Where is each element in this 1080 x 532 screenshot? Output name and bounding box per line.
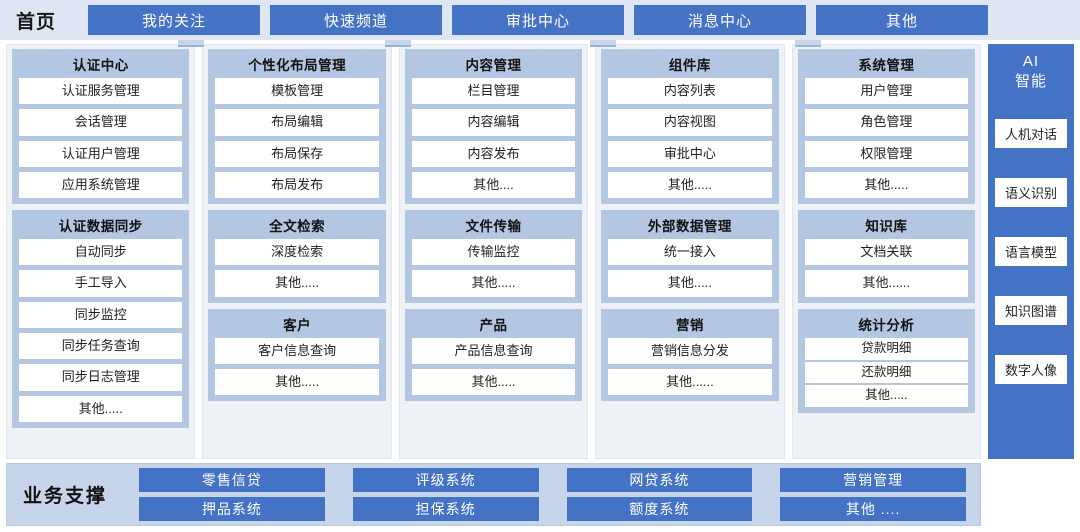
module-group-title: 外部数据管理 bbox=[608, 213, 771, 239]
module-item[interactable]: 文档关联 bbox=[805, 239, 968, 265]
nav-connector-notch bbox=[385, 40, 411, 47]
module-item-list: 产品信息查询其他..... bbox=[412, 338, 575, 396]
module-item[interactable]: 其他..... bbox=[805, 172, 968, 198]
nav-tab-2[interactable]: 审批中心 bbox=[452, 5, 624, 35]
module-item-list: 用户管理角色管理权限管理其他..... bbox=[805, 78, 968, 198]
main-body: 认证中心认证服务管理会话管理认证用户管理应用系统管理认证数据同步自动同步手工导入… bbox=[0, 40, 1080, 459]
module-group: 外部数据管理统一接入其他..... bbox=[601, 210, 778, 303]
ai-sidebar-title: AI 智能 bbox=[1015, 52, 1047, 93]
business-support-label: 业务支撑 bbox=[17, 481, 139, 508]
module-group-title: 客户 bbox=[215, 312, 378, 338]
module-item[interactable]: 模板管理 bbox=[215, 78, 378, 104]
support-button-7[interactable]: 其他 .... bbox=[780, 497, 966, 521]
module-group: 营销营销信息分发其他...... bbox=[601, 309, 778, 402]
module-item[interactable]: 同步日志管理 bbox=[19, 364, 182, 390]
module-group: 客户客户信息查询其他..... bbox=[208, 309, 385, 402]
module-item[interactable]: 同步任务查询 bbox=[19, 333, 182, 359]
module-item[interactable]: 其他..... bbox=[412, 270, 575, 296]
module-group: 认证中心认证服务管理会话管理认证用户管理应用系统管理 bbox=[12, 49, 189, 204]
module-group: 全文检索深度检索其他..... bbox=[208, 210, 385, 303]
module-column-4: 系统管理用户管理角色管理权限管理其他.....知识库文档关联其他......统计… bbox=[792, 44, 981, 459]
module-group: 组件库内容列表内容视图审批中心其他..... bbox=[601, 49, 778, 204]
module-group-title: 知识库 bbox=[805, 213, 968, 239]
ai-sidebar-item-0[interactable]: 人机对话 bbox=[995, 119, 1067, 148]
nav-connector-notch bbox=[178, 40, 204, 47]
ai-sidebar-item-4[interactable]: 数字人像 bbox=[995, 355, 1067, 384]
module-group-title: 组件库 bbox=[608, 52, 771, 78]
module-group-title: 文件传输 bbox=[412, 213, 575, 239]
module-item-list: 文档关联其他...... bbox=[805, 239, 968, 297]
nav-tab-list: 我的关注快速频道审批中心消息中心其他 bbox=[88, 5, 1072, 35]
ai-sidebar-item-3[interactable]: 知识图谱 bbox=[995, 296, 1067, 325]
module-group-title: 全文检索 bbox=[215, 213, 378, 239]
module-item[interactable]: 产品信息查询 bbox=[412, 338, 575, 364]
support-button-1[interactable]: 评级系统 bbox=[353, 468, 539, 492]
module-item[interactable]: 深度检索 bbox=[215, 239, 378, 265]
module-item-list: 深度检索其他..... bbox=[215, 239, 378, 297]
module-item[interactable]: 其他...... bbox=[805, 270, 968, 296]
ai-sidebar-item-2[interactable]: 语言模型 bbox=[995, 237, 1067, 266]
module-item[interactable]: 其他...... bbox=[608, 369, 771, 395]
module-item[interactable]: 其他..... bbox=[215, 369, 378, 395]
module-item[interactable]: 贷款明细 bbox=[805, 338, 968, 360]
business-support-bar: 业务支撑 零售信贷评级系统网贷系统营销管理押品系统担保系统额度系统其他 .... bbox=[0, 459, 1080, 532]
support-spacer bbox=[988, 463, 1074, 526]
support-button-4[interactable]: 押品系统 bbox=[139, 497, 325, 521]
module-item[interactable]: 其他..... bbox=[19, 396, 182, 422]
ai-sidebar-item-1[interactable]: 语义识别 bbox=[995, 178, 1067, 207]
module-item[interactable]: 内容列表 bbox=[608, 78, 771, 104]
module-item[interactable]: 会话管理 bbox=[19, 109, 182, 135]
module-item[interactable]: 栏目管理 bbox=[412, 78, 575, 104]
nav-tab-1[interactable]: 快速频道 bbox=[270, 5, 442, 35]
module-item[interactable]: 其他..... bbox=[412, 369, 575, 395]
module-item-list: 栏目管理内容编辑内容发布其他.... bbox=[412, 78, 575, 198]
nav-tab-4[interactable]: 其他 bbox=[816, 5, 988, 35]
nav-connector-notch bbox=[795, 40, 821, 47]
module-item-list: 统一接入其他..... bbox=[608, 239, 771, 297]
module-item[interactable]: 布局保存 bbox=[215, 141, 378, 167]
module-group: 内容管理栏目管理内容编辑内容发布其他.... bbox=[405, 49, 582, 204]
module-column-0: 认证中心认证服务管理会话管理认证用户管理应用系统管理认证数据同步自动同步手工导入… bbox=[6, 44, 195, 459]
module-item[interactable]: 内容视图 bbox=[608, 109, 771, 135]
ai-sidebar: AI 智能 人机对话语义识别语言模型知识图谱数字人像 bbox=[988, 44, 1074, 459]
module-item[interactable]: 其他..... bbox=[608, 270, 771, 296]
module-item[interactable]: 手工导入 bbox=[19, 270, 182, 296]
nav-connector-notch bbox=[590, 40, 616, 47]
module-columns: 认证中心认证服务管理会话管理认证用户管理应用系统管理认证数据同步自动同步手工导入… bbox=[6, 44, 981, 459]
module-item[interactable]: 内容编辑 bbox=[412, 109, 575, 135]
module-column-2: 内容管理栏目管理内容编辑内容发布其他....文件传输传输监控其他.....产品产… bbox=[399, 44, 588, 459]
module-item-list: 内容列表内容视图审批中心其他..... bbox=[608, 78, 771, 198]
module-item[interactable]: 其他..... bbox=[608, 172, 771, 198]
business-support-panel: 业务支撑 零售信贷评级系统网贷系统营销管理押品系统担保系统额度系统其他 .... bbox=[6, 463, 981, 526]
module-item[interactable]: 统一接入 bbox=[608, 239, 771, 265]
top-navigation-bar: 首页 我的关注快速频道审批中心消息中心其他 bbox=[0, 0, 1080, 40]
module-group-title: 内容管理 bbox=[412, 52, 575, 78]
nav-tab-3[interactable]: 消息中心 bbox=[634, 5, 806, 35]
module-column-1: 个性化布局管理模板管理布局编辑布局保存布局发布全文检索深度检索其他.....客户… bbox=[202, 44, 391, 459]
module-item[interactable]: 营销信息分发 bbox=[608, 338, 771, 364]
module-group: 认证数据同步自动同步手工导入同步监控同步任务查询同步日志管理其他..... bbox=[12, 210, 189, 428]
dashboard-page: 首页 我的关注快速频道审批中心消息中心其他 认证中心认证服务管理会话管理认证用户… bbox=[0, 0, 1080, 532]
module-group-title: 产品 bbox=[412, 312, 575, 338]
module-group-title: 认证数据同步 bbox=[19, 213, 182, 239]
module-group-title: 认证中心 bbox=[19, 52, 182, 78]
module-item[interactable]: 内容发布 bbox=[412, 141, 575, 167]
support-button-0[interactable]: 零售信贷 bbox=[139, 468, 325, 492]
module-item[interactable]: 认证用户管理 bbox=[19, 141, 182, 167]
business-support-button-grid: 零售信贷评级系统网贷系统营销管理押品系统担保系统额度系统其他 .... bbox=[139, 468, 970, 521]
module-item[interactable]: 自动同步 bbox=[19, 239, 182, 265]
module-item[interactable]: 同步监控 bbox=[19, 302, 182, 328]
support-button-5[interactable]: 担保系统 bbox=[353, 497, 539, 521]
support-button-3[interactable]: 营销管理 bbox=[780, 468, 966, 492]
module-item[interactable]: 客户信息查询 bbox=[215, 338, 378, 364]
module-item[interactable]: 权限管理 bbox=[805, 141, 968, 167]
module-item[interactable]: 用户管理 bbox=[805, 78, 968, 104]
module-item-list: 客户信息查询其他..... bbox=[215, 338, 378, 396]
module-item-list: 自动同步手工导入同步监控同步任务查询同步日志管理其他..... bbox=[19, 239, 182, 422]
module-group-title: 统计分析 bbox=[805, 312, 968, 338]
module-item[interactable]: 其他.... bbox=[412, 172, 575, 198]
module-item[interactable]: 角色管理 bbox=[805, 109, 968, 135]
module-group: 文件传输传输监控其他..... bbox=[405, 210, 582, 303]
module-item[interactable]: 审批中心 bbox=[608, 141, 771, 167]
ai-sidebar-item-list: 人机对话语义识别语言模型知识图谱数字人像 bbox=[995, 119, 1067, 384]
module-group: 系统管理用户管理角色管理权限管理其他..... bbox=[798, 49, 975, 204]
home-label: 首页 bbox=[10, 7, 88, 34]
module-group: 产品产品信息查询其他..... bbox=[405, 309, 582, 402]
module-item[interactable]: 还款明细 bbox=[805, 362, 968, 384]
module-column-3: 组件库内容列表内容视图审批中心其他.....外部数据管理统一接入其他.....营… bbox=[595, 44, 784, 459]
module-item[interactable]: 认证服务管理 bbox=[19, 78, 182, 104]
module-item-list: 贷款明细还款明细其他..... bbox=[805, 338, 968, 407]
module-item-list: 模板管理布局编辑布局保存布局发布 bbox=[215, 78, 378, 198]
nav-tab-0[interactable]: 我的关注 bbox=[88, 5, 260, 35]
support-button-2[interactable]: 网贷系统 bbox=[567, 468, 753, 492]
module-item[interactable]: 布局发布 bbox=[215, 172, 378, 198]
module-group-title: 个性化布局管理 bbox=[215, 52, 378, 78]
module-item[interactable]: 其他..... bbox=[805, 385, 968, 407]
module-item[interactable]: 传输监控 bbox=[412, 239, 575, 265]
support-button-6[interactable]: 额度系统 bbox=[567, 497, 753, 521]
module-group-title: 系统管理 bbox=[805, 52, 968, 78]
module-item-list: 传输监控其他..... bbox=[412, 239, 575, 297]
module-item[interactable]: 布局编辑 bbox=[215, 109, 378, 135]
module-item-list: 认证服务管理会话管理认证用户管理应用系统管理 bbox=[19, 78, 182, 198]
module-item-list: 营销信息分发其他...... bbox=[608, 338, 771, 396]
module-item[interactable]: 应用系统管理 bbox=[19, 172, 182, 198]
module-group-title: 营销 bbox=[608, 312, 771, 338]
module-item[interactable]: 其他..... bbox=[215, 270, 378, 296]
module-group: 个性化布局管理模板管理布局编辑布局保存布局发布 bbox=[208, 49, 385, 204]
module-group: 统计分析贷款明细还款明细其他..... bbox=[798, 309, 975, 413]
module-group: 知识库文档关联其他...... bbox=[798, 210, 975, 303]
